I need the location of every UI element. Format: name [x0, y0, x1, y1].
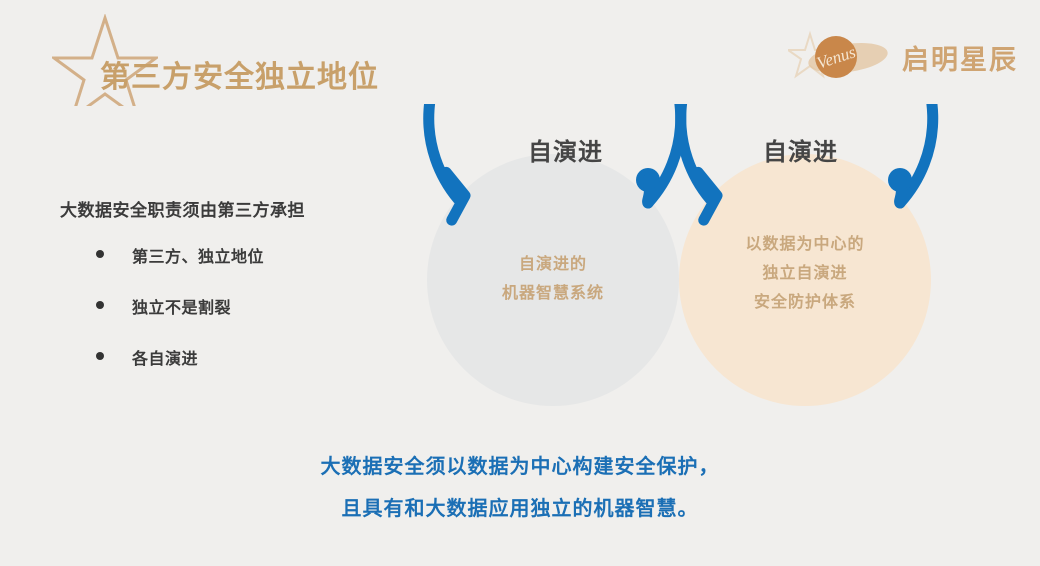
- brand-logo: Venus 启明星辰: [788, 28, 1018, 86]
- right-circle-caption: 自演进: [763, 132, 838, 167]
- list-item-label: 独立不是割裂: [132, 300, 231, 317]
- list-item: 各自演进: [96, 345, 400, 369]
- content-block: 大数据安全职责须由第三方承担 第三方、独立地位 独立不是割裂 各自演进: [60, 196, 400, 396]
- left-circle-body-line-2: 机器智慧系统: [463, 279, 643, 308]
- brand-name: 启明星辰: [902, 38, 1018, 77]
- right-circle-body: 以数据为中心的 独立自演进 安全防护体系: [715, 230, 895, 317]
- bullet-dot-icon: [96, 301, 104, 309]
- right-circle-body-line-2: 独立自演进: [715, 259, 895, 288]
- list-item-label: 第三方、独立地位: [132, 249, 264, 266]
- venus-planet-icon: Venus: [788, 28, 896, 86]
- bullet-dot-icon: [96, 250, 104, 258]
- conclusion-line-1: 大数据安全须以数据为中心构建安全保护，: [0, 446, 1040, 488]
- list-item: 第三方、独立地位: [96, 243, 400, 267]
- right-circle-body-line-1: 以数据为中心的: [715, 230, 895, 259]
- page-title: 第三方安全独立地位: [100, 52, 379, 96]
- left-circle-body-line-1: 自演进的: [463, 250, 643, 279]
- bullet-list: 第三方、独立地位 独立不是割裂 各自演进: [60, 243, 400, 369]
- slide-root: 第三方安全独立地位 Venus 启明星辰 大数据安全职责须由第三方承担 第三方、…: [0, 0, 1040, 566]
- conclusion-line-2: 且具有和大数据应用独立的机器智慧。: [0, 488, 1040, 530]
- conclusion-text: 大数据安全须以数据为中心构建安全保护， 且具有和大数据应用独立的机器智慧。: [0, 446, 1040, 530]
- list-item-label: 各自演进: [132, 351, 198, 368]
- content-heading: 大数据安全职责须由第三方承担: [60, 196, 400, 221]
- right-circle-body-line-3: 安全防护体系: [715, 288, 895, 317]
- bullet-dot-icon: [96, 352, 104, 360]
- left-circle-caption: 自演进: [528, 132, 603, 167]
- left-circle-body: 自演进的 机器智慧系统: [463, 250, 643, 308]
- list-item: 独立不是割裂: [96, 294, 400, 318]
